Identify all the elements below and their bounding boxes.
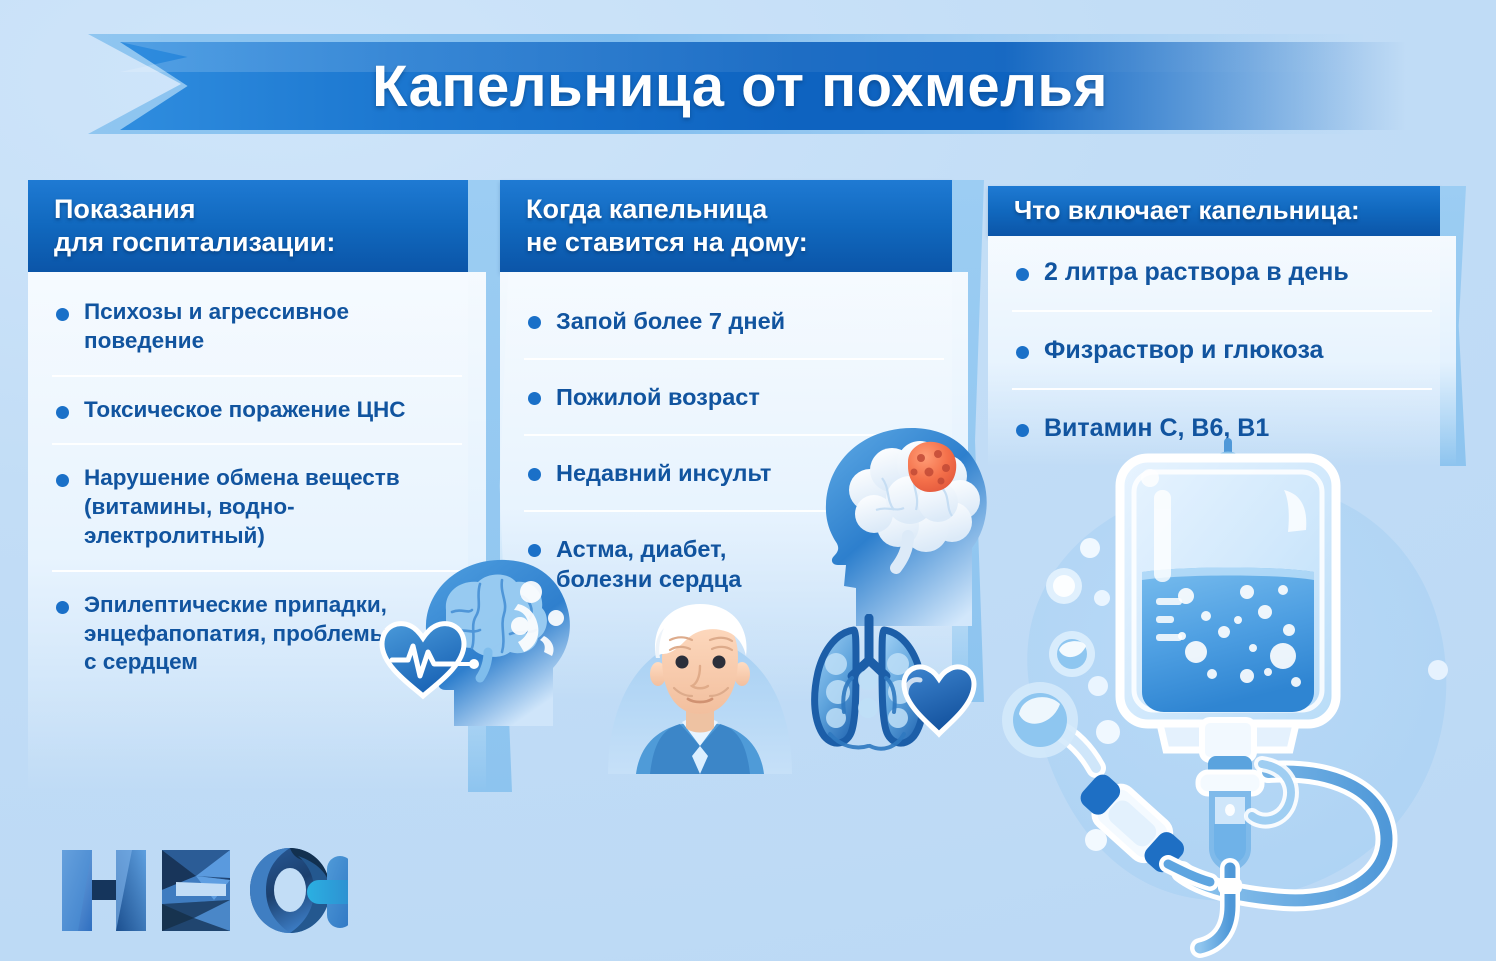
list-item: Токсическое поражение ЦНС — [52, 375, 462, 444]
list-item: Психозы и агрессивное поведение — [52, 298, 462, 375]
card-contraindications: Когда капельница не ставится на дому: За… — [500, 180, 968, 702]
brand-logo — [58, 838, 348, 943]
title-banner: Капельница от похмелья — [0, 28, 1496, 140]
list-item: Физраствор и глюкоза — [1012, 310, 1432, 388]
card-contents: Что включает капельница: 2 литра раствор… — [988, 186, 1456, 466]
list-item: Витамин С, В6, В1 — [1012, 388, 1432, 466]
list-item: Запой более 7 дней — [524, 306, 944, 358]
list-item: Пожилой возраст — [524, 358, 944, 434]
card-contraindications-header: Когда капельница не ставится на дому: — [500, 180, 952, 272]
card-contents-header: Что включает капельница: — [988, 186, 1440, 236]
contents-list: 2 литра раствора в день Физраствор и глю… — [1012, 256, 1432, 466]
card-indications: Показания для госпитализации: Психозы и … — [28, 180, 486, 792]
logo-letter-e — [162, 850, 230, 931]
infographic-canvas: Капельница от похмелья Показания для гос… — [0, 0, 1496, 961]
card-contraindications-body: Запой более 7 дней Пожилой возраст Недав… — [500, 272, 968, 702]
logo-letter-n — [62, 850, 146, 931]
card-indications-body: Психозы и агрессивное поведение Токсичес… — [28, 272, 486, 792]
page-title: Капельница от похмелья — [372, 53, 1108, 120]
contraindications-list: Запой более 7 дней Пожилой возраст Недав… — [524, 306, 944, 616]
iv-drip-bag-icon — [1000, 420, 1492, 960]
list-item: Недавний инсульт — [524, 434, 944, 510]
list-item: Астма, диабет, болезни сердца — [524, 510, 944, 616]
card-indications-header-text: Показания для госпитализации: — [54, 193, 335, 259]
card-indications-header: Показания для госпитализации: — [28, 180, 468, 272]
list-item: Эпилептические припадки, энцефапопатия, … — [52, 570, 462, 677]
list-item: Нарушение обмена веществ (витамины, водн… — [52, 443, 462, 569]
card-contents-header-text: Что включает капельница: — [1014, 195, 1360, 227]
list-item: 2 литра раствора в день — [1012, 256, 1432, 310]
indications-list: Психозы и агрессивное поведение Токсичес… — [52, 298, 462, 677]
card-contraindications-header-text: Когда капельница не ставится на дому: — [526, 193, 808, 259]
title-ribbon: Капельница от похмелья — [120, 42, 1420, 130]
card-contents-body: 2 литра раствора в день Физраствор и глю… — [988, 236, 1456, 466]
